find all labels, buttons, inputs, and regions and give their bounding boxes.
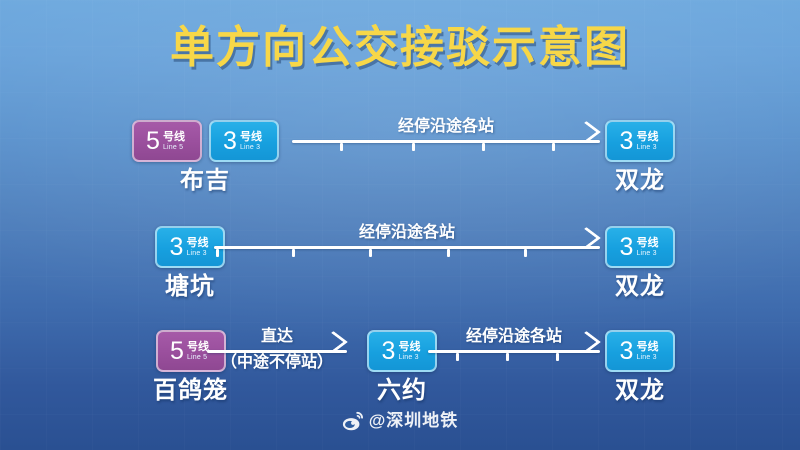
arrow-tick [482, 143, 485, 151]
row1-origin-badges: 5 号线 Line 5 3 号线 Line 3 [120, 120, 290, 162]
line-badge-text: 号线 Line 3 [636, 237, 658, 258]
arrow-tick [556, 353, 559, 361]
poster-canvas: 单方向公交接驳示意图 5 号线 Line 5 3 号线 Line 3 [0, 0, 800, 450]
line-badge-number: 5 [146, 129, 160, 154]
line-badge-3: 3 号线 Line 3 [367, 330, 437, 372]
row2-segment-label: 经停沿途各站 [214, 224, 600, 242]
arrow-shaft [207, 350, 347, 353]
row1-origin-node: 5 号线 Line 5 3 号线 Line 3 布吉 [120, 120, 290, 195]
arrow-tick [216, 249, 219, 257]
line-badge-text: 号线 Line 3 [636, 131, 658, 152]
line-badge-cn: 号线 [187, 341, 209, 353]
station-name: 六约 [337, 377, 467, 405]
arrow-tick [456, 353, 459, 361]
arrow-tick [524, 249, 527, 257]
row1-segment-label: 经停沿途各站 [292, 118, 600, 136]
line-badge-cn: 号线 [636, 341, 658, 353]
line-badge-cn: 号线 [636, 131, 658, 143]
line-badge-3: 3 号线 Line 3 [209, 120, 279, 162]
line-badge-cn: 号线 [398, 341, 420, 353]
line-badge-en: Line 3 [398, 353, 418, 362]
arrow-tick [506, 353, 509, 361]
line-badge-3: 3 号线 Line 3 [605, 120, 675, 162]
station-name: 百鸽笼 [113, 377, 268, 405]
line-badge-3: 3 号线 Line 3 [605, 330, 675, 372]
line-badge-cn: 号线 [186, 237, 208, 249]
line-badge-cn: 号线 [240, 131, 262, 143]
station-name: 塘坑 [120, 273, 260, 301]
watermark: @深圳地铁 [0, 410, 800, 432]
line-badge-en: Line 3 [240, 143, 260, 152]
page-title: 单方向公交接驳示意图 [0, 22, 800, 74]
line-badge-en: Line 3 [636, 143, 656, 152]
route-row-3: 5 号线 Line 5 百鸽笼 直达 （中途不停站） 3 号线 [0, 330, 800, 410]
arrow-tick [552, 143, 555, 151]
station-name: 双龙 [570, 273, 710, 301]
line-badge-3: 3 号线 Line 3 [605, 226, 675, 268]
route-row-2: 3 号线 Line 3 塘坑 经停沿途各站 3 [0, 226, 800, 306]
row2-destination-badges: 3 号线 Line 3 [570, 226, 710, 268]
row2-segment-arrow: 经停沿途各站 [214, 234, 600, 256]
row3-destination-node: 3 号线 Line 3 双龙 [570, 330, 710, 405]
watermark-text: @深圳地铁 [369, 411, 459, 431]
station-name: 双龙 [570, 377, 710, 405]
line-badge-en: Line 5 [163, 143, 183, 152]
line-badge-text: 号线 Line 3 [186, 237, 208, 258]
line-badge-number: 3 [620, 129, 634, 154]
line-badge-number: 3 [620, 235, 634, 260]
arrow-tick [292, 249, 295, 257]
arrow-tick [412, 143, 415, 151]
row1-segment-arrow: 经停沿途各站 [292, 128, 600, 150]
arrow-tick [369, 249, 372, 257]
row3-segment1-label-below: （中途不停站） [207, 354, 347, 372]
line-badge-cn: 号线 [636, 237, 658, 249]
line-badge-en: Line 3 [636, 353, 656, 362]
arrow-tick [340, 143, 343, 151]
line-badge-number: 5 [170, 339, 184, 364]
row3-segment1-arrow: 直达 （中途不停站） [207, 338, 347, 360]
route-row-1: 5 号线 Line 5 3 号线 Line 3 布吉 经停沿途各站 [0, 120, 800, 200]
row3-destination-badges: 3 号线 Line 3 [570, 330, 710, 372]
line-badge-text: 号线 Line 3 [240, 131, 262, 152]
line-badge-number: 3 [223, 129, 237, 154]
row1-destination-badges: 3 号线 Line 3 [570, 120, 710, 162]
row2-destination-node: 3 号线 Line 3 双龙 [570, 226, 710, 301]
line-badge-en: Line 3 [636, 249, 656, 258]
arrow-shaft [214, 246, 600, 249]
station-name: 双龙 [570, 167, 710, 195]
weibo-icon [342, 410, 364, 432]
arrow-tick [447, 249, 450, 257]
line-badge-text: 号线 Line 3 [398, 341, 420, 362]
line-badge-number: 3 [620, 339, 634, 364]
line-badge-number: 3 [170, 235, 184, 260]
row1-destination-node: 3 号线 Line 3 双龙 [570, 120, 710, 195]
station-name: 布吉 [120, 167, 290, 195]
line-badge-text: 号线 Line 5 [163, 131, 185, 152]
line-badge-en: Line 5 [187, 353, 207, 362]
line-badge-5: 5 号线 Line 5 [132, 120, 202, 162]
line-badge-number: 3 [382, 339, 396, 364]
line-badge-en: Line 3 [186, 249, 206, 258]
line-badge-text: 号线 Line 5 [187, 341, 209, 362]
line-badge-text: 号线 Line 3 [636, 341, 658, 362]
line-badge-cn: 号线 [163, 131, 185, 143]
